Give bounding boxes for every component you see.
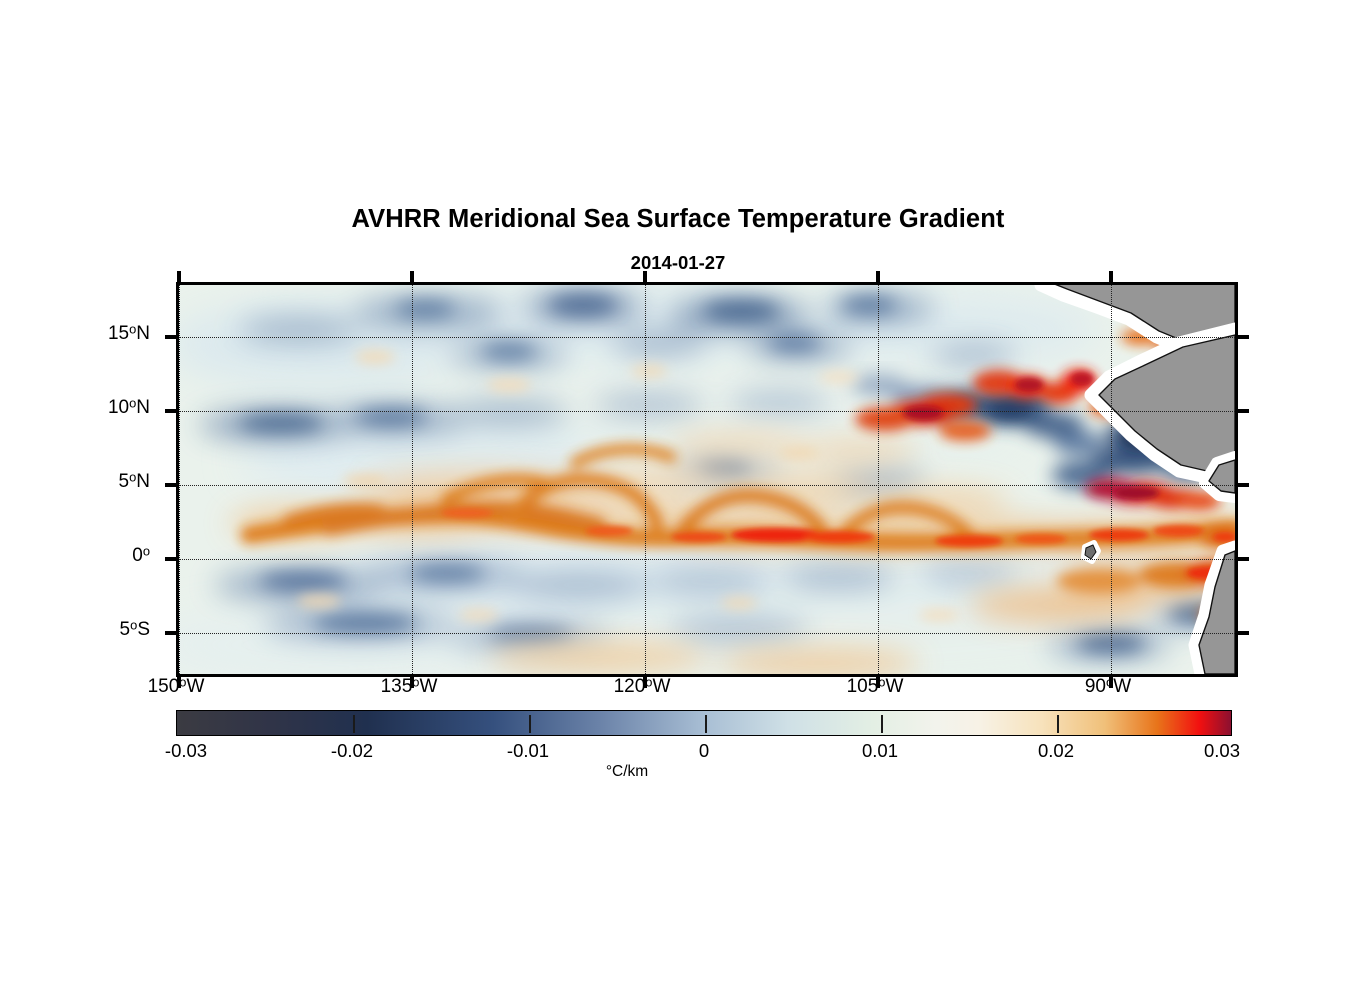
page-title: AVHRR Meridional Sea Surface Temperature… [0, 205, 1356, 234]
ytick-label-10N: 10oN [0, 397, 164, 419]
ytick-10N-right [1238, 409, 1249, 413]
map-plot-area[interactable] [176, 282, 1238, 677]
xtick-120W-top [643, 271, 647, 282]
colorbar-label--0.02: -0.02 [331, 740, 373, 762]
gridline-lon-150W [179, 285, 180, 674]
gridline-lon-120W [645, 285, 646, 674]
gridline-lat-15N [179, 337, 1235, 338]
xtick-135W-top [410, 271, 414, 282]
sst-gradient-heatmap [179, 285, 1235, 674]
ytick-15N [165, 335, 176, 339]
ytick-label-5S: 5oS [0, 619, 164, 641]
colorbar-label-0.01: 0.01 [862, 740, 898, 762]
gridline-lon-135W [412, 285, 413, 674]
colorbar-label--0.03: -0.03 [165, 740, 207, 762]
xtick-label-90W: 90oW [1085, 676, 1131, 698]
gridline-lon-90W [1111, 285, 1112, 674]
ytick-10N [165, 409, 176, 413]
colorbar-tick-0.01 [881, 715, 883, 733]
xtick-label-120W: 120oW [614, 676, 671, 698]
ytick-label-5N: 5oN [0, 471, 164, 493]
ytick-15N-right [1238, 335, 1249, 339]
ytick-label-15N: 15oN [0, 323, 164, 345]
colorbar-tick-0.02 [1057, 715, 1059, 733]
colorbar-gradient [177, 711, 1231, 735]
gridline-lat-0 [179, 559, 1235, 560]
colorbar-tick--0.02 [353, 715, 355, 733]
ytick-0 [165, 557, 176, 561]
ytick-5S-right [1238, 631, 1249, 635]
xtick-label-150W: 150oW [148, 676, 205, 698]
gridline-lat-5S [179, 633, 1235, 634]
xtick-150W-top [177, 271, 181, 282]
gridline-lat-10N [179, 411, 1235, 412]
colorbar-tick-0 [705, 715, 707, 733]
page-subtitle: 2014-01-27 [0, 252, 1356, 274]
ytick-5N [165, 483, 176, 487]
ytick-5S [165, 631, 176, 635]
xtick-105W-top [876, 271, 880, 282]
colorbar-tick--0.01 [529, 715, 531, 733]
xtick-90W-top [1109, 271, 1113, 282]
xtick-label-135W: 135oW [381, 676, 438, 698]
xtick-label-105W: 105oW [847, 676, 904, 698]
colorbar-label-0.02: 0.02 [1038, 740, 1074, 762]
colorbar-unit-label: °C/km [0, 763, 1356, 781]
map-canvas [179, 285, 1235, 674]
gridline-lon-105W [878, 285, 879, 674]
ytick-0-right [1238, 557, 1249, 561]
ytick-5N-right [1238, 483, 1249, 487]
colorbar-label-0: 0 [699, 740, 709, 762]
colorbar-label--0.01: -0.01 [507, 740, 549, 762]
gridline-lat-5N [179, 485, 1235, 486]
colorbar-label-0.03: 0.03 [1204, 740, 1240, 762]
ytick-label-0: 0o [0, 545, 164, 567]
colorbar[interactable] [176, 710, 1232, 736]
